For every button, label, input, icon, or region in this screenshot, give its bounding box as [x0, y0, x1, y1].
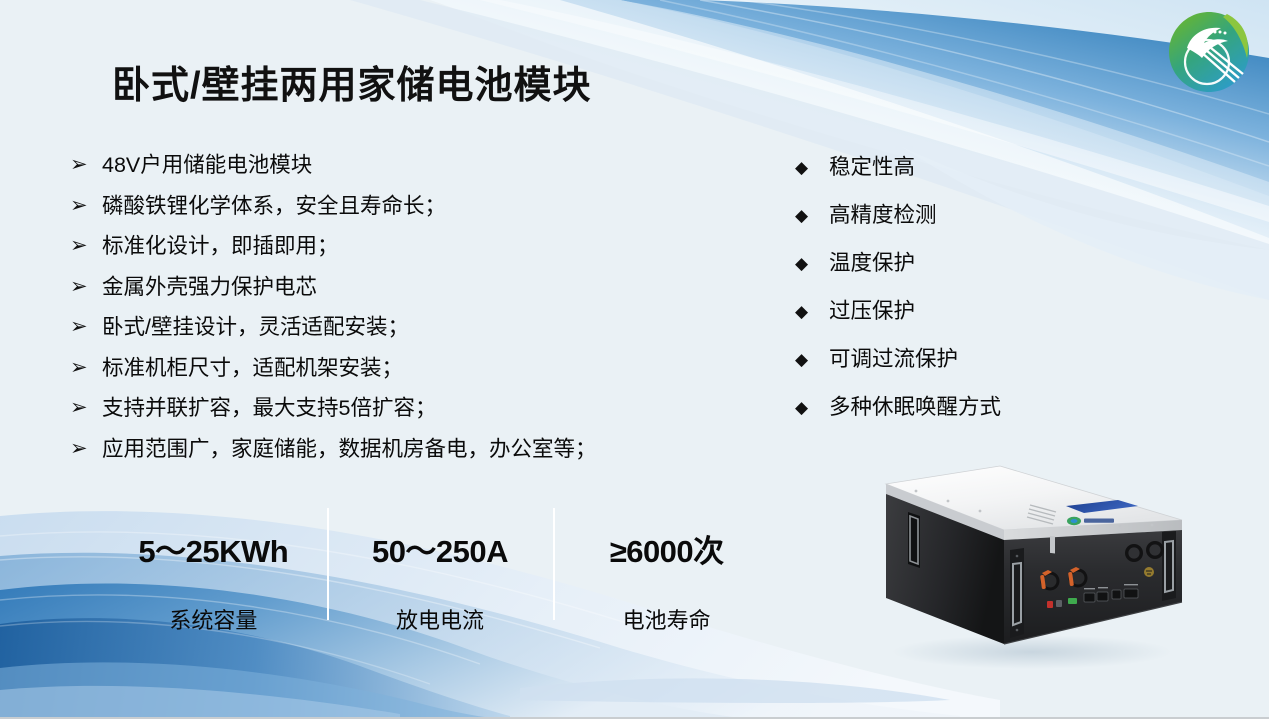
arrow-bullet-icon: ➢: [70, 314, 102, 340]
arrow-bullet-icon: ➢: [70, 395, 102, 421]
list-item-label: 48V户用储能电池模块: [102, 152, 312, 178]
spec-cycle-life: ≥6000次 电池寿命: [553, 512, 780, 630]
list-item: ➢ 48V户用储能电池模块: [70, 152, 710, 178]
list-item-label: 标准机柜尺寸，适配机架安装；: [102, 355, 403, 381]
spec-capacity: 5～25KWh 系统容量: [100, 512, 327, 630]
list-item-label: 金属外壳强力保护电芯: [102, 274, 317, 300]
list-item-label: 磷酸铁锂化学体系，安全且寿命长；: [102, 193, 446, 219]
list-item: ◆ 可调过流保护: [795, 346, 1125, 373]
feature-list-right: ◆ 稳定性高 ◆ 高精度检测 ◆ 温度保护 ◆ 过压保护 ◆ 可调过流保护 ◆ …: [795, 154, 1125, 442]
diamond-bullet-icon: ◆: [795, 250, 829, 277]
list-item: ➢ 磷酸铁锂化学体系，安全且寿命长；: [70, 193, 710, 219]
list-item: ➢ 金属外壳强力保护电芯: [70, 274, 710, 300]
list-item-label: 可调过流保护: [829, 346, 958, 373]
list-item: ◆ 稳定性高: [795, 154, 1125, 181]
diamond-bullet-icon: ◆: [795, 346, 829, 373]
spec-value: 50～250A: [372, 526, 508, 571]
arrow-bullet-icon: ➢: [70, 436, 102, 462]
spec-value: ≥6000次: [610, 526, 724, 571]
list-item: ➢ 标准化设计，即插即用；: [70, 233, 710, 259]
list-item-label: 卧式/壁挂设计，灵活适配安装；: [102, 314, 409, 340]
battery-module-photo: [852, 438, 1200, 674]
list-item: ◆ 高精度检测: [795, 202, 1125, 229]
list-item-label: 稳定性高: [829, 154, 915, 181]
spec-value: 5～25KWh: [138, 526, 288, 571]
slide-canvas: 卧式/壁挂两用家储电池模块 ➢ 48V户用储能电池模块 ➢ 磷酸铁锂化学体系，安…: [0, 0, 1269, 719]
diamond-bullet-icon: ◆: [795, 154, 829, 181]
spec-highlights: 5～25KWh 系统容量 50～250A 放电电流 ≥6000次 电池寿命: [100, 512, 780, 630]
list-item-label: 应用范围广，家庭储能，数据机房备电，办公室等；: [102, 436, 597, 462]
arrow-bullet-icon: ➢: [70, 355, 102, 381]
spec-label: 电池寿命: [623, 603, 711, 635]
list-item-label: 多种休眠唤醒方式: [829, 394, 1001, 421]
list-item: ➢ 标准机柜尺寸，适配机架安装；: [70, 355, 710, 381]
list-item-label: 高精度检测: [829, 202, 937, 229]
list-item: ◆ 多种休眠唤醒方式: [795, 394, 1125, 421]
spec-label: 系统容量: [169, 603, 257, 635]
arrow-bullet-icon: ➢: [70, 233, 102, 259]
company-logo: [1165, 8, 1253, 96]
arrow-bullet-icon: ➢: [70, 193, 102, 219]
list-item: ➢ 应用范围广，家庭储能，数据机房备电，办公室等；: [70, 436, 710, 462]
spec-label: 放电电流: [396, 603, 484, 635]
list-item: ➢ 卧式/壁挂设计，灵活适配安装；: [70, 314, 710, 340]
arrow-bullet-icon: ➢: [70, 274, 102, 300]
diamond-bullet-icon: ◆: [795, 394, 829, 421]
list-item-label: 支持并联扩容，最大支持5倍扩容；: [102, 395, 436, 421]
diamond-bullet-icon: ◆: [795, 202, 829, 229]
list-item: ◆ 温度保护: [795, 250, 1125, 277]
spec-discharge-current: 50～250A 放电电流: [327, 512, 554, 630]
list-item: ➢ 支持并联扩容，最大支持5倍扩容；: [70, 395, 710, 421]
list-item-label: 温度保护: [829, 250, 915, 277]
list-item-label: 过压保护: [829, 298, 915, 325]
diamond-bullet-icon: ◆: [795, 298, 829, 325]
list-item-label: 标准化设计，即插即用；: [102, 233, 339, 259]
feature-list-left: ➢ 48V户用储能电池模块 ➢ 磷酸铁锂化学体系，安全且寿命长； ➢ 标准化设计…: [70, 152, 710, 476]
list-item: ◆ 过压保护: [795, 298, 1125, 325]
page-title: 卧式/壁挂两用家储电池模块: [112, 54, 592, 109]
arrow-bullet-icon: ➢: [70, 152, 102, 178]
